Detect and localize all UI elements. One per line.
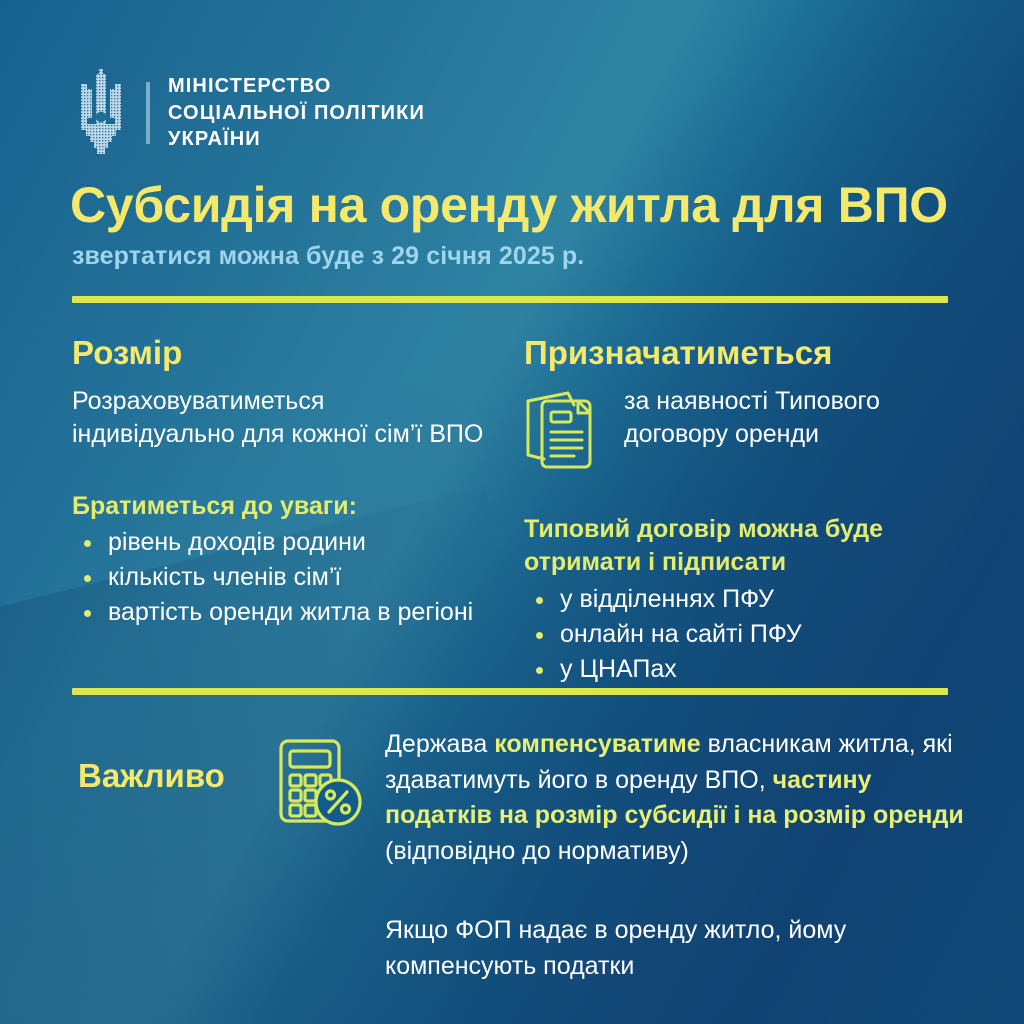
ministry-name-line-1: МІНІСТЕРСТВО bbox=[168, 73, 425, 100]
important-paragraph-1: Держава компенсуватиме власникам житла, … bbox=[385, 727, 965, 869]
section-rozmir-heading: Розмір bbox=[72, 336, 492, 371]
calculator-percent-icon bbox=[276, 737, 364, 829]
section-pryznachatymetsia: Призначатиметься за наявності Типового bbox=[524, 336, 954, 687]
logo-divider bbox=[146, 82, 150, 144]
divider-bottom bbox=[72, 688, 948, 695]
section-pryznachatymetsia-list-heading: Типовий договір можна буде отримати і пі… bbox=[524, 513, 954, 580]
ministry-name-line-2: СОЦІАЛЬНОЇ ПОЛІТИКИ bbox=[168, 100, 425, 127]
important-label: Важливо bbox=[78, 757, 225, 795]
section-pryznachatymetsia-heading: Призначатиметься bbox=[524, 336, 954, 371]
important-p1-highlight1: компенсуватиме bbox=[494, 730, 700, 758]
important-body: Держава компенсуватиме власникам житла, … bbox=[385, 727, 965, 984]
documents-icon bbox=[524, 389, 602, 475]
section-rozmir-criteria: Братиметься до уваги: рівень доходів род… bbox=[72, 490, 492, 630]
list-item: кількість членів сім’ї bbox=[72, 560, 492, 594]
important-p1-part3: (відповідно до нормативу) bbox=[385, 837, 689, 865]
ministry-logo: МІНІСТЕРСТВО СОЦІАЛЬНОЇ ПОЛІТИКИ УКРАЇНИ bbox=[72, 68, 425, 158]
section-rozmir-list: рівень доходів родини кількість членів с… bbox=[72, 525, 492, 629]
important-p1-part1: Держава bbox=[385, 730, 494, 758]
list-item: рівень доходів родини bbox=[72, 525, 492, 559]
page-title: Субсидія на оренду житла для ВПО bbox=[70, 178, 970, 232]
section-rozmir: Розмір Розраховуватиметься індивідуально… bbox=[72, 336, 492, 630]
section-rozmir-paragraph: Розраховуватиметься індивідуально для ко… bbox=[72, 385, 492, 452]
ukraine-trident-emblem-icon bbox=[72, 68, 130, 158]
section-pryznachatymetsia-body: за наявності Типового договору оренди bbox=[524, 385, 954, 475]
important-paragraph-2: Якщо ФОП надає в оренду житло, йому комп… bbox=[385, 913, 965, 984]
ministry-name: МІНІСТЕРСТВО СОЦІАЛЬНОЇ ПОЛІТИКИ УКРАЇНИ bbox=[168, 73, 425, 153]
section-pryznachatymetsia-list: у відділеннях ПФУ онлайн на сайті ПФУ у … bbox=[524, 582, 954, 686]
ministry-name-line-3: УКРАЇНИ bbox=[168, 126, 425, 153]
list-item: вартість оренди житла в регіоні bbox=[72, 595, 492, 629]
list-item: у ЦНАПах bbox=[524, 652, 954, 686]
list-item: у відділеннях ПФУ bbox=[524, 582, 954, 616]
section-pryznachatymetsia-where: Типовий договір можна буде отримати і пі… bbox=[524, 513, 954, 686]
page-subtitle: звертатися можна буде з 29 січня 2025 р. bbox=[72, 242, 584, 271]
list-item: онлайн на сайті ПФУ bbox=[524, 617, 954, 651]
divider-top bbox=[72, 296, 948, 303]
infographic-poster: МІНІСТЕРСТВО СОЦІАЛЬНОЇ ПОЛІТИКИ УКРАЇНИ… bbox=[0, 0, 1024, 1024]
section-pryznachatymetsia-paragraph: за наявності Типового договору оренди bbox=[624, 385, 954, 452]
section-rozmir-list-heading: Братиметься до уваги: bbox=[72, 490, 492, 524]
